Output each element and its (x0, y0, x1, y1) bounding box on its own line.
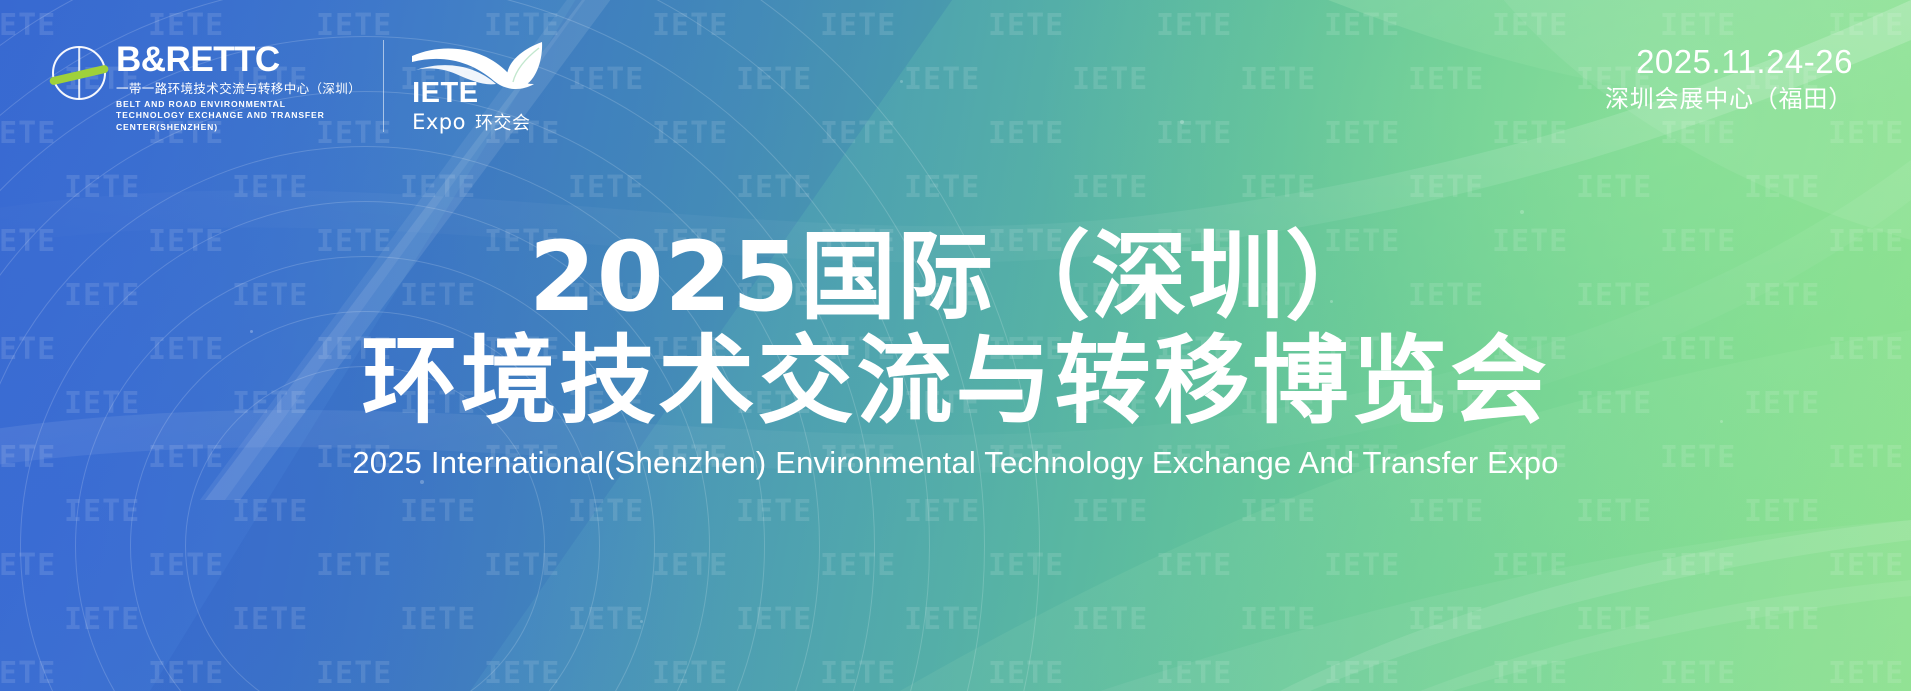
sparkle-dot (1520, 210, 1524, 214)
brettc-english-line-1: BELT AND ROAD ENVIRONMENTAL (116, 99, 361, 111)
brettc-chinese-name: 一带一路环境技术交流与转移中心（深圳） (116, 81, 361, 97)
event-date: 2025.11.24-26 (1605, 44, 1853, 81)
sparkle-dot (900, 80, 903, 83)
headline-subtitle-english: 2025 International(Shenzhen) Environment… (0, 446, 1911, 480)
brettc-english-name: BELT AND ROAD ENVIRONMENTAL TECHNOLOGY E… (116, 99, 361, 135)
sparkle-dot (1180, 120, 1184, 124)
logo-bar: B&RETTC 一带一路环境技术交流与转移中心（深圳） BELT AND ROA… (52, 40, 550, 132)
sparkle-dot (640, 620, 643, 623)
headline-block: 2025国际（深圳） 环境技术交流与转移博览会 2025 Internation… (0, 228, 1911, 480)
iete-expo-logo[interactable]: IETE Expo 环交会 (410, 40, 550, 132)
iete-subtitle: Expo 环交会 (412, 112, 530, 133)
sparkle-dot (420, 480, 424, 484)
globe-with-green-band-icon (52, 46, 106, 100)
brettc-title: B&RETTC (116, 42, 361, 77)
headline-line-2: 环境技术交流与转移博览会 (0, 332, 1911, 432)
event-meta: 2025.11.24-26 深圳会展中心（福田） (1605, 44, 1853, 114)
iete-expo-label: Expo (412, 112, 466, 133)
iete-wordmark: IETE (412, 79, 478, 108)
headline-line-1: 2025国际（深圳） (0, 228, 1911, 328)
brettc-english-line-3: CENTER(SHENZHEN) (116, 122, 361, 134)
event-venue: 深圳会展中心（福田） (1605, 85, 1853, 114)
event-banner: IETEIETEIETEIETEIETEIETEIETEIETEIETEIETE… (0, 0, 1911, 691)
brettc-english-line-2: TECHNOLOGY EXCHANGE AND TRANSFER (116, 110, 361, 122)
iete-chinese-label: 环交会 (475, 115, 531, 133)
brettc-logo[interactable]: B&RETTC 一带一路环境技术交流与转移中心（深圳） BELT AND ROA… (52, 40, 384, 132)
